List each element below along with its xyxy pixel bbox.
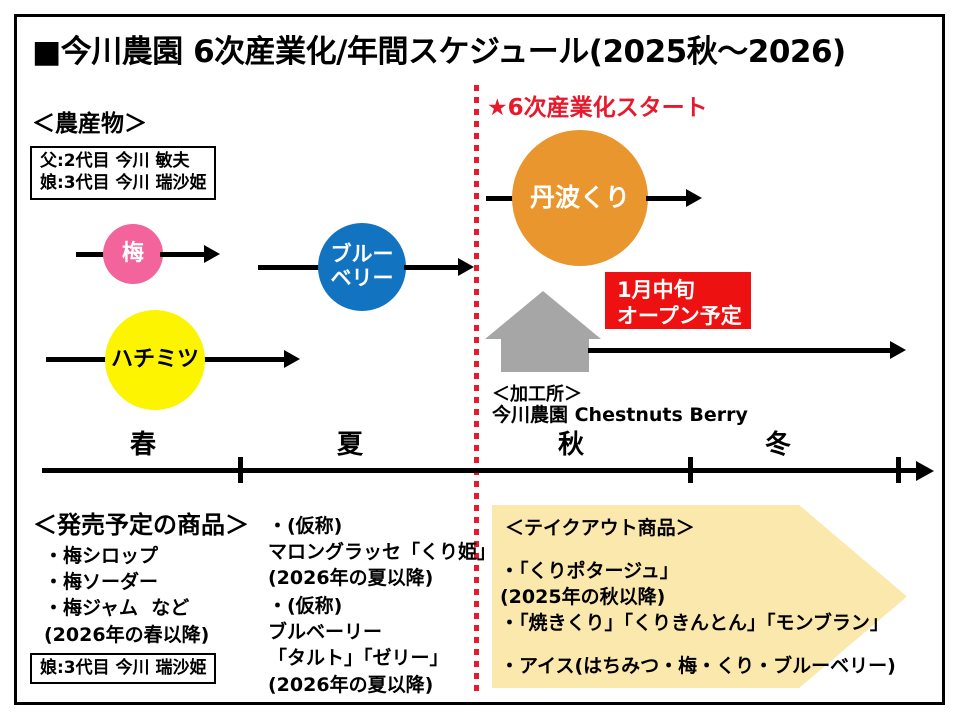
blueberry-inbound-line	[258, 265, 326, 270]
produce-section-heading: ＜農産物＞	[32, 104, 147, 138]
planned-products-heading: ＜発売予定の商品＞	[33, 505, 249, 540]
season-label-winter: 冬	[765, 424, 791, 461]
blueberry-arrow-head	[458, 258, 474, 276]
timeline-arrow-head	[916, 461, 934, 481]
takeout-item-ice: ・アイス(はちみつ・梅・くり・ブルーベリー)	[500, 653, 896, 679]
main-flow-line	[588, 348, 893, 353]
owner-name-box-bottom: 娘:3代目 今川 瑞沙姫	[30, 653, 216, 684]
timeline-tick-autumn-winter	[688, 457, 693, 483]
honey-arrow-head	[284, 350, 300, 368]
blueberry-outbound-line	[404, 265, 460, 270]
owner-bottom-label: 娘:3代目 今川 瑞沙姫	[40, 658, 206, 678]
takeout-item-sweets: ・「焼きくり」「くりきんとん」「モンブラン」	[500, 610, 889, 636]
facility-house-body-icon	[501, 337, 589, 372]
middle-products-block-2: ・(仮称) ブルベーリー 「タルト」「ゼリー」 (2026年の夏以降)	[268, 593, 449, 698]
season-label-spring: 春	[130, 424, 156, 461]
ume-outbound-line	[160, 252, 206, 257]
timeline-tick-end	[896, 457, 901, 483]
chestnut-arrow-head	[686, 189, 702, 207]
crop-circle-chestnut-label: 丹波くり	[530, 184, 630, 212]
season-label-autumn: 秋	[558, 424, 584, 461]
timeline-tick-spring-summer	[238, 457, 243, 483]
takeout-item-potage: ・「くりポタージュ」	[500, 558, 679, 584]
main-flow-arrow-head	[890, 341, 906, 359]
middle-products-block-1: ・(仮称) マロングラッセ「くり姫」 (2026年の夏以降)	[268, 513, 496, 592]
owner-line-father: 父:2代目 今川 敏夫	[40, 150, 206, 172]
owner-line-daughter: 娘:3代目 今川 瑞沙姫	[40, 172, 206, 194]
facility-house-roof-icon	[485, 291, 601, 339]
sixth-industry-start-label: ★6次産業化スタート	[487, 88, 708, 122]
facility-label-name: 今川農園 Chestnuts Berry	[492, 403, 748, 429]
owner-name-box-top: 父:2代目 今川 敏夫 娘:3代目 今川 瑞沙姫	[30, 146, 216, 200]
sixth-industry-divider-line	[474, 85, 479, 691]
crop-circle-blueberry-label: ブルー ベリー	[331, 243, 394, 290]
timeline-axis	[42, 468, 918, 473]
ume-arrow-head	[204, 245, 220, 263]
crop-circle-honey: ハチミツ	[105, 310, 205, 410]
crop-circle-chestnut: 丹波くり	[512, 130, 648, 266]
chestnut-outbound-line	[646, 196, 688, 201]
takeout-item-potage-timing: (2025年の秋以降)	[500, 584, 665, 610]
planned-products-list: ・梅シロップ ・梅ソーダー ・梅ジャム など (2026年の春以降)	[44, 543, 209, 648]
crop-circle-honey-label: ハチミツ	[111, 348, 199, 373]
crop-circle-ume: 梅	[103, 224, 163, 284]
open-notice-line2: オープン予定	[617, 303, 741, 329]
open-notice-line1: 1月中旬	[617, 277, 741, 303]
season-label-summer: 夏	[337, 424, 363, 461]
page-title: ■今川農園 6次産業化/年間スケジュール(2025秋～2026)	[32, 26, 846, 71]
crop-circle-blueberry: ブルー ベリー	[318, 223, 406, 311]
slide-canvas: ■今川農園 6次産業化/年間スケジュール(2025秋～2026) ★6次産業化ス…	[0, 0, 961, 721]
crop-circle-ume-label: 梅	[122, 242, 144, 267]
takeout-heading: ＜テイクアウト商品＞	[505, 515, 695, 541]
open-notice-badge: 1月中旬 オープン予定	[605, 272, 751, 329]
